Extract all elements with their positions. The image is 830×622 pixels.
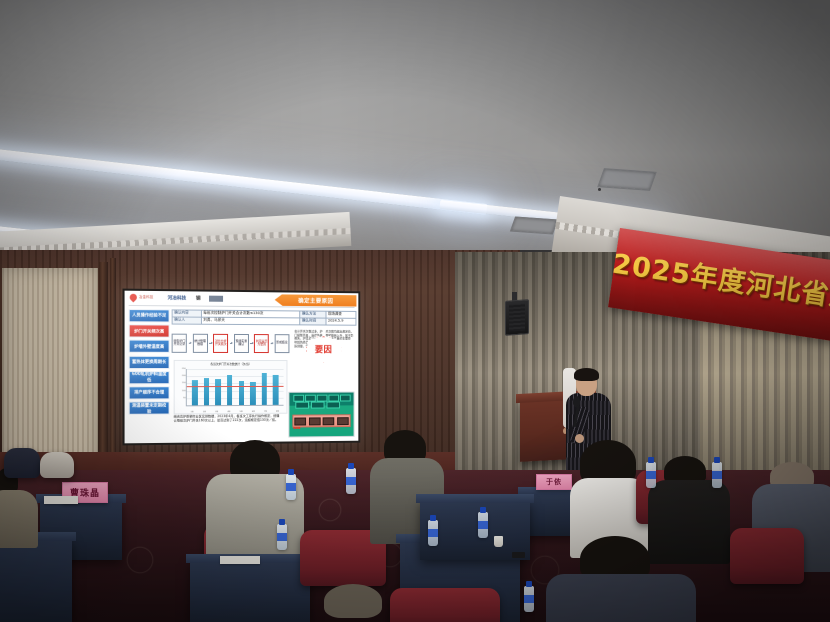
stamp-label: 要因 (315, 343, 332, 355)
hmi-tag (326, 401, 340, 408)
slide-caption: 结合高炉炼钢作业区实测数据，2023年4月，各班次工序执行操作规定，经确认每班次… (174, 414, 282, 423)
hmi-tag (311, 402, 325, 409)
water-bottle-icon (277, 524, 287, 550)
chart-ytick: 100 (182, 390, 186, 392)
document-paper (220, 556, 260, 564)
flow-node: 统计整理数据 (192, 333, 207, 352)
paper-cup (494, 536, 503, 547)
wall-trim (99, 262, 108, 472)
logo-mark-icon (128, 292, 138, 302)
chart-xtick: 4班 (227, 410, 230, 413)
chart-bar (227, 375, 232, 405)
flow-node: 现场实测确认 (234, 333, 249, 352)
name-placard: 于依 (536, 474, 572, 490)
hmi-furnace-zone (309, 417, 321, 425)
attendee (570, 440, 646, 540)
hmi-furnace-zone (295, 417, 307, 425)
flow-node: 收集炉门开关记录 (172, 333, 187, 352)
chart-xtick: 2班 (203, 410, 206, 413)
company-logo-icon: 冶金科技 (130, 294, 154, 301)
flow-arrow-icon (189, 343, 192, 344)
attendee-table (0, 538, 72, 622)
attendee-table-top (416, 494, 534, 503)
attendee-clothing (0, 490, 38, 548)
attendee-hair (324, 584, 382, 618)
bar-chart: 各班次炉门开关次数统计（次/班） 250 200 150 100 50 (174, 360, 288, 415)
chair (730, 528, 804, 584)
attendee (0, 468, 42, 544)
chart-ytick: 200 (182, 375, 186, 377)
flow-arrow-icon (209, 343, 212, 344)
flow-node-highlighted: 对比分析开关频次 (213, 333, 228, 352)
ceiling-vent-icon (597, 168, 657, 191)
chart-xtick: 5班 (240, 410, 243, 413)
wall-speaker-icon (505, 299, 529, 336)
conference-room-photo: 2025年度河北省冶金 冶金科技 河冶科技 钢 确定主要原因 (0, 0, 830, 622)
ceiling-vent-icon (510, 216, 558, 234)
chart-xtick: 7班 (264, 410, 267, 413)
speaker-grille (509, 303, 525, 331)
presenter-hair (574, 368, 599, 381)
phone-device (512, 552, 525, 558)
hmi-alarm-text: ■■■ (293, 426, 300, 429)
water-bottle-icon (346, 468, 356, 494)
slide-body: 确认内容 每班次控制炉门开关合计次数≤130次 确认方法 现场调查 确认人 刘勇… (172, 309, 357, 440)
chart-plot-area: 250 200 150 100 50 (186, 369, 284, 406)
hmi-furnace-diagram (292, 414, 350, 427)
water-bottle-icon (524, 586, 534, 612)
chart-xtick: 6班 (252, 410, 255, 413)
chart-bars (189, 369, 282, 405)
hmi-screenshot: ■■■ (288, 392, 354, 438)
table-cell-label: 确认人 (172, 317, 201, 324)
process-flow-diagram: 收集炉门开关记录 统计整理数据 对比分析开关频次 现场实测确认 判定是否为要因 … (172, 330, 290, 356)
acoustic-slat-panel (2, 268, 98, 466)
water-bottle-icon (428, 520, 438, 546)
slide-dept-redaction (209, 295, 223, 301)
logo-text: 冶金科技 (139, 296, 153, 300)
cause-chip: 炉墙外壁温度高 (129, 340, 170, 353)
water-bottle-icon (646, 462, 656, 488)
chart-xtick: 8班 (276, 410, 279, 413)
wall-trim (110, 258, 116, 473)
hmi-tag (295, 402, 309, 409)
flow-node: 形成结论 (274, 334, 289, 353)
projection-screen[interactable]: 冶金科技 河冶科技 钢 确定主要原因 人员操作经验不足 炉门开关频次高 炉墙外壁… (122, 289, 360, 446)
slide-section-title: 确定主要原因 (298, 296, 333, 304)
cause-chip: 测温装置未定期校验 (129, 402, 170, 415)
slide-dept-name: 钢 (196, 295, 201, 301)
attendee-clothing (546, 574, 696, 622)
chart-bar (204, 378, 210, 405)
chart-ytick: 50 (183, 397, 186, 399)
hmi-furnace-zone (323, 417, 335, 425)
ceiling (0, 0, 830, 250)
chart-bar (192, 380, 198, 406)
chart-ytick: 250 (182, 368, 186, 370)
flow-arrow-icon (271, 343, 273, 344)
table-cell-value: 刘勇、马彦天 (201, 317, 300, 325)
cause-chip: 600轧机炉料温度低 (129, 371, 170, 384)
attendee-table (190, 560, 310, 622)
hmi-tag (340, 395, 351, 402)
table-cell-value: 2024.5.9 (326, 318, 356, 325)
chart-bar (262, 373, 267, 405)
table-row: 确认人 刘勇、马彦天 确认时间 2024.5.9 (172, 317, 356, 325)
chart-bar (239, 381, 244, 405)
attendee (300, 584, 410, 622)
hmi-tag (328, 395, 339, 402)
ceiling-sensor-icon (598, 188, 601, 191)
chart-title: 各班次炉门开关次数统计（次/班） (175, 362, 287, 366)
placard-name: 于依 (546, 477, 562, 487)
water-bottle-icon (712, 462, 722, 488)
chart-xtick: 3班 (215, 410, 218, 413)
chart-bar (273, 375, 278, 405)
chair-white (40, 452, 74, 478)
slide-header: 冶金科技 河冶科技 钢 确定主要原因 (125, 291, 359, 308)
chair (4, 448, 40, 478)
cause-chip-list: 人员操作经验不足 炉门开关频次高 炉墙外壁温度高 蓄热体更换周期长 600轧机炉… (129, 309, 170, 415)
attendee (546, 536, 686, 622)
water-bottle-icon (478, 512, 488, 538)
flow-node-highlighted: 判定是否为要因 (254, 334, 269, 353)
document-paper (44, 496, 78, 504)
chart-xtick: 1班 (190, 410, 193, 413)
cause-chip: 蓄热体更换周期长 (129, 355, 170, 368)
flow-arrow-icon (250, 343, 252, 344)
presentation-slide: 冶金科技 河冶科技 钢 确定主要原因 人员操作经验不足 炉门开关频次高 炉墙外壁… (125, 291, 359, 444)
table-cell-label: 确认时间 (300, 318, 326, 325)
flow-arrow-icon (230, 343, 232, 344)
cause-chip-highlighted: 炉门开关频次高 (129, 324, 170, 337)
slide-section-ribbon: 确定主要原因 (275, 294, 357, 307)
cause-chip: 排产顺序不合理 (129, 386, 170, 399)
chart-bar (215, 379, 221, 405)
chart-ytick: 150 (182, 383, 186, 385)
hmi-furnace-zone (337, 417, 349, 425)
confirmation-table: 确认内容 每班次控制炉门开关合计次数≤130次 确认方法 现场调查 确认人 刘勇… (172, 309, 357, 325)
slide-org-name: 河冶科技 (168, 295, 187, 301)
cause-chip: 人员操作经验不足 (129, 309, 170, 322)
water-bottle-icon (286, 474, 296, 500)
